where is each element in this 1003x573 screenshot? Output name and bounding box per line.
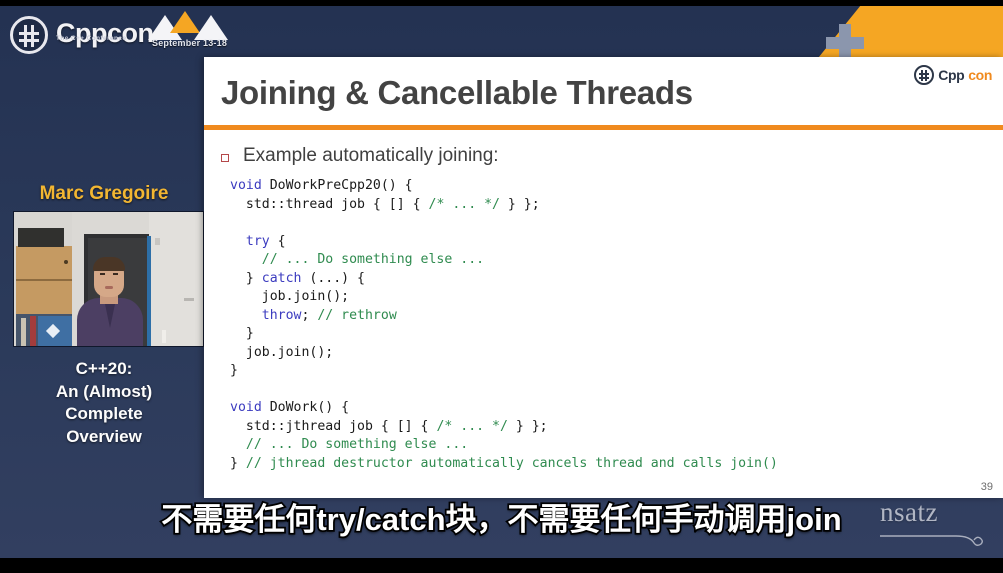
code-text: } }; (508, 419, 548, 434)
letterbox-bottom (0, 558, 1003, 573)
code-comment: // rethrow (317, 308, 396, 323)
code-text: } (230, 363, 238, 378)
code-text: DoWork() { (262, 400, 349, 415)
code-text: } (230, 271, 262, 286)
code-text: { (270, 234, 286, 249)
code-comment: // ... Do something else ... (262, 252, 484, 267)
code-text: (...) { (301, 271, 365, 286)
code-text: } }; (500, 197, 540, 212)
slide-title: Joining & Cancellable Threads (221, 74, 693, 112)
code-keyword: try (246, 234, 270, 249)
badge-con-text: con (968, 67, 992, 83)
subtitle-caption: 不需要任何try/catch块，不需要任何手动调用join (0, 494, 1003, 539)
speaker-webcam-video[interactable] (13, 211, 204, 347)
code-keyword: void (230, 400, 262, 415)
code-comment: /* ... */ (436, 419, 507, 434)
cppcon-emblem-icon (10, 16, 48, 54)
code-text: } (230, 326, 254, 341)
cppcon-badge-emblem-icon (914, 65, 934, 85)
bullet-text: Example automatically joining: (243, 145, 499, 167)
code-text (230, 252, 262, 267)
slide-bullet: Example automatically joining: (221, 145, 499, 167)
slide-page-number: 39 (981, 481, 993, 493)
code-comment: /* ... */ (429, 197, 500, 212)
code-text: std::thread job { [] { (230, 197, 429, 212)
code-text: ; (301, 308, 317, 323)
slide-accent-rule (204, 125, 1003, 130)
bullet-square-icon (221, 154, 229, 162)
conference-date: September 13-18 (152, 38, 227, 48)
speaker-name: Marc Gregoire (0, 183, 208, 205)
code-text (230, 437, 246, 452)
presentation-slide: Joining & Cancellable Threads Cpp con Ex… (204, 57, 1003, 498)
code-comment: // jthread destructor automatically canc… (246, 456, 778, 471)
code-keyword: catch (262, 271, 302, 286)
cppcon-tagline: The C++ Conference (56, 35, 126, 42)
code-text: DoWorkPreCpp20() { (262, 178, 413, 193)
cppcon-chevrons-icon (148, 10, 232, 40)
cppcon-slide-badge: Cpp con (914, 65, 992, 85)
code-comment: // ... Do something else ... (246, 437, 468, 452)
deck-title: C++20:An (Almost)CompleteOverview (0, 358, 208, 448)
cppcon-wordmark: Cppcon (56, 20, 154, 47)
code-text: } (230, 456, 246, 471)
code-block: void DoWorkPreCpp20() { std::thread job … (230, 177, 778, 473)
code-keyword: throw (262, 308, 302, 323)
video-player-stage: Cppcon The C++ Conference September 13-1… (0, 0, 1003, 573)
code-text: job.join(); (230, 289, 349, 304)
code-keyword: void (230, 178, 262, 193)
code-text (230, 234, 246, 249)
code-text: std::jthread job { [] { (230, 419, 436, 434)
code-text: job.join(); (230, 345, 333, 360)
badge-cpp-text: Cpp (938, 67, 964, 83)
code-text (230, 308, 262, 323)
